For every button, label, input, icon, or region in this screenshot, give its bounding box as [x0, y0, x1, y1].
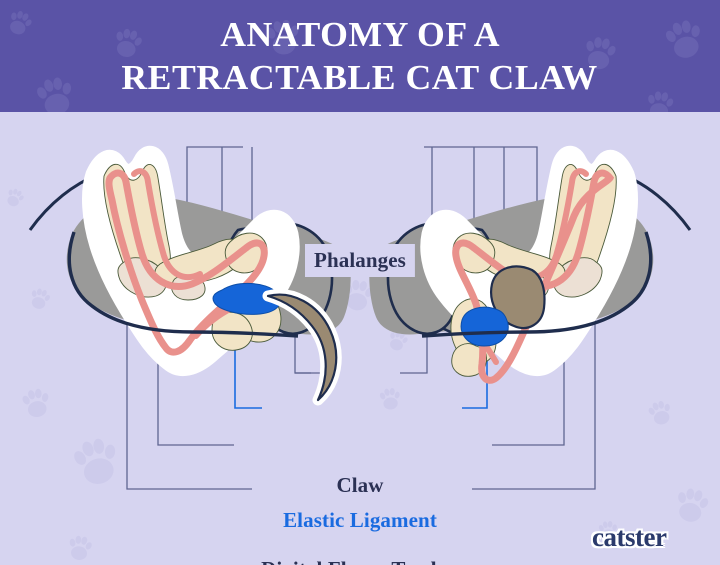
page-title: ANATOMY OF A RETRACTABLE CAT CLAW: [0, 0, 720, 112]
label-digital-flexor-tendon: Digital Flexor Tendon: [261, 557, 459, 565]
label-elastic-ligament: Elastic Ligament: [283, 508, 437, 533]
right-paw-diagram: [369, 152, 690, 380]
diagram-area: Phalanges Claw Elastic Ligament Digital …: [0, 112, 720, 565]
right-elastic-ligament: [461, 307, 508, 346]
title-line-2: RETRACTABLE CAT CLAW: [122, 57, 598, 99]
catster-logo[interactable]: catster: [592, 522, 666, 553]
left-paw-diagram: [30, 152, 351, 400]
header-banner: ANATOMY OF A RETRACTABLE CAT CLAW: [0, 0, 720, 112]
label-phalanges: Phalanges: [314, 248, 406, 273]
label-claw: Claw: [336, 473, 383, 498]
infographic-root: ANATOMY OF A RETRACTABLE CAT CLAW: [0, 0, 720, 565]
title-line-1: ANATOMY OF A: [220, 14, 500, 56]
